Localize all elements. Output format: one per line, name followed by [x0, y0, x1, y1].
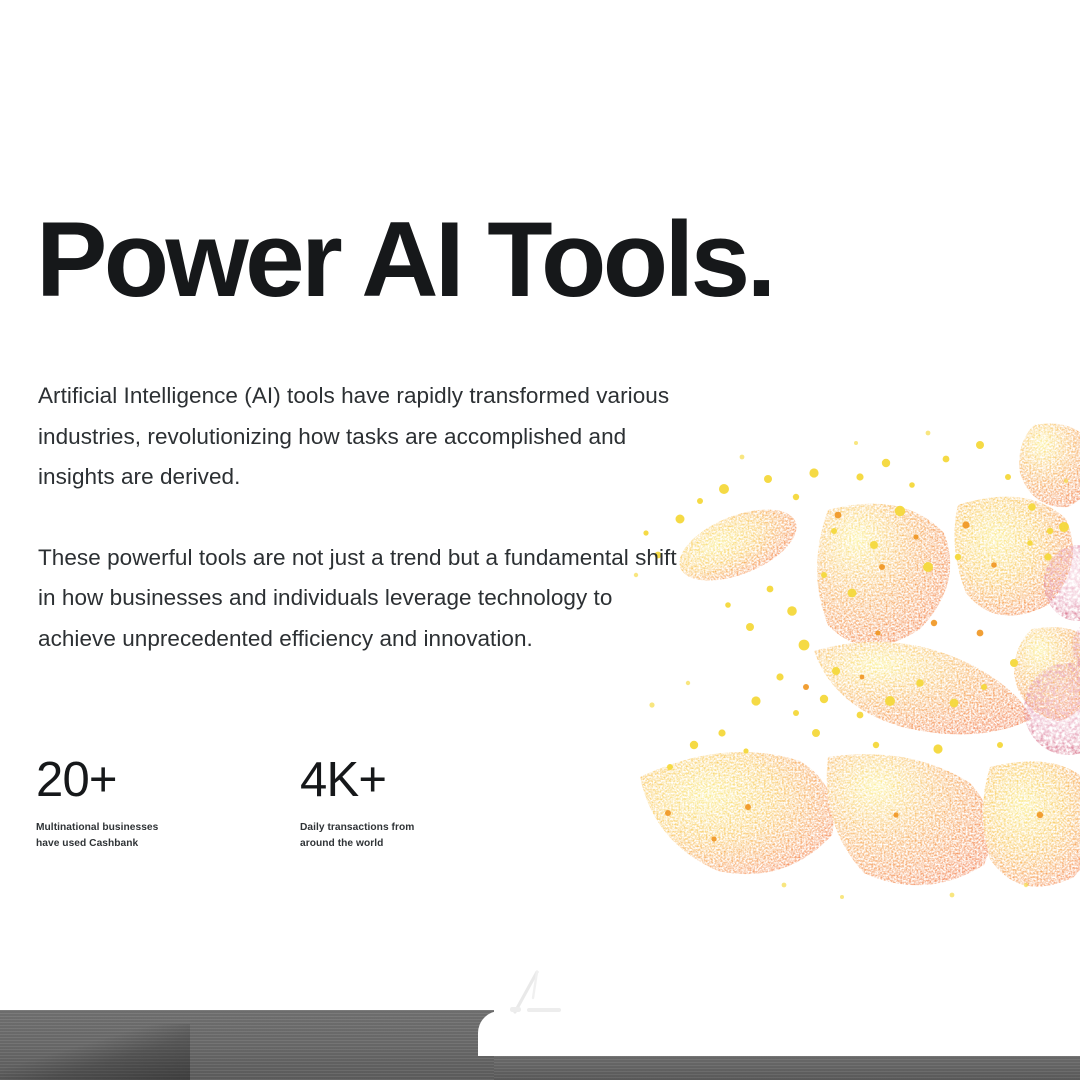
stat-item: 20+ Multinational businesses have used C…: [36, 755, 176, 852]
paragraph-2: These powerful tools are not just a tren…: [38, 538, 678, 660]
page-title: Power AI Tools.: [36, 206, 1066, 313]
stat-caption: Daily transactions from around the world: [300, 820, 440, 851]
stat-number: 4K+: [300, 755, 440, 806]
particle-flower-graphic: [628, 415, 1080, 915]
body-copy: Artificial Intelligence (AI) tools have …: [38, 376, 678, 660]
stats-group: 20+ Multinational businesses have used C…: [36, 755, 440, 852]
slide-canvas: Power AI Tools. Artificial Intelligence …: [0, 0, 1080, 1080]
stat-caption: Multinational businesses have used Cashb…: [36, 820, 176, 851]
paragraph-1: Artificial Intelligence (AI) tools have …: [38, 376, 678, 498]
logo-watermark-icon: [503, 968, 563, 1020]
stat-item: 4K+ Daily transactions from around the w…: [300, 755, 440, 852]
device-band-left: [0, 1010, 494, 1080]
stat-number: 20+: [36, 755, 176, 806]
bottom-panel-card: [478, 1011, 1080, 1056]
